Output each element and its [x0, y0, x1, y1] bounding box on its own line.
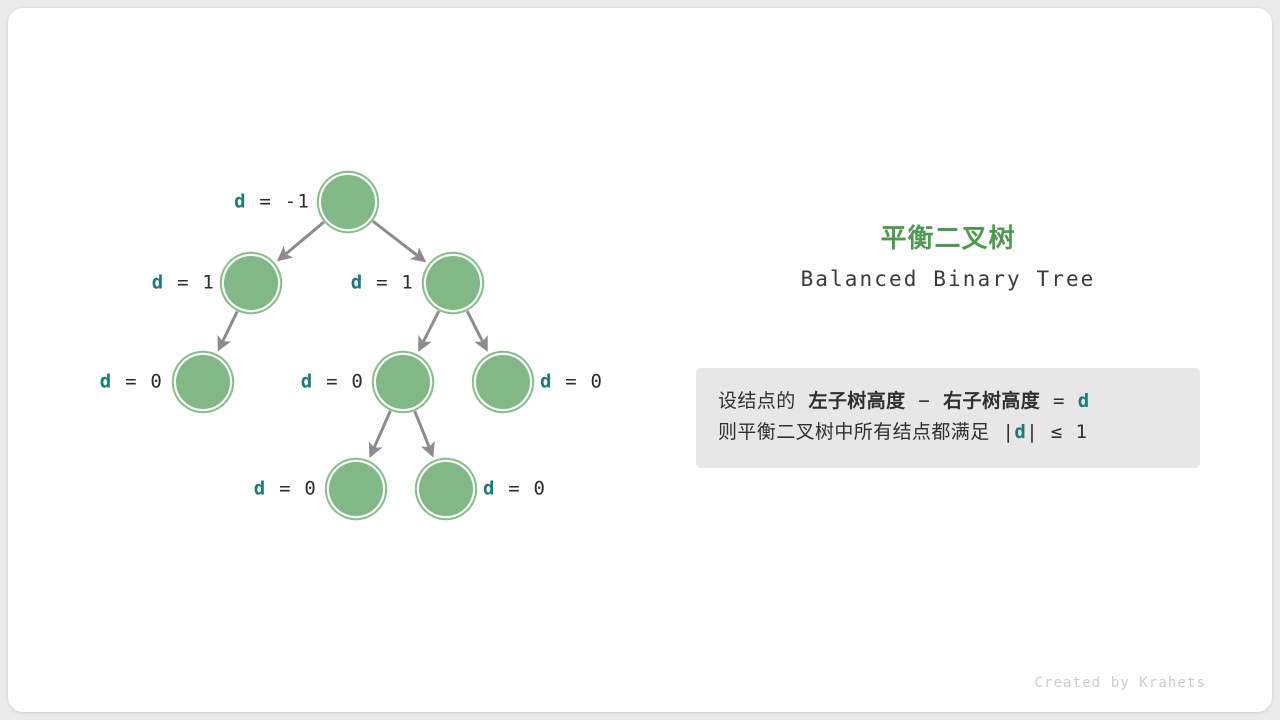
title-panel: 平衡二叉树 Balanced Binary Tree	[696, 222, 1200, 291]
definition-line-2: 则平衡二叉树中所有结点都满足 |d| ≤ 1	[718, 417, 1178, 448]
tree-node[interactable]	[376, 355, 430, 409]
node-balance-label: d = -1	[234, 193, 310, 212]
equals-operator: =	[1053, 390, 1065, 412]
definition-box: 设结点的 左子树高度 − 右子树高度 = d 则平衡二叉树中所有结点都满足 |d…	[696, 368, 1200, 468]
page-subtitle: Balanced Binary Tree	[696, 267, 1200, 291]
relation-operator: ≤	[1051, 421, 1063, 443]
balance-value: = 0	[112, 371, 163, 393]
balance-value: = 1	[363, 272, 414, 294]
abs-bar-close: |	[1026, 421, 1038, 443]
tree-node[interactable]	[224, 256, 278, 310]
tree-node[interactable]	[176, 355, 230, 409]
balance-value: = 0	[496, 478, 547, 500]
balance-value: = 0	[266, 478, 317, 500]
node-balance-label: d = 0	[301, 373, 364, 392]
term-left-subtree-height: 左子树高度	[809, 390, 906, 412]
variable-d: d	[234, 191, 247, 213]
balance-value: = 0	[313, 371, 364, 393]
node-balance-label: d = 0	[483, 480, 546, 499]
variable-d: d	[351, 272, 364, 294]
balance-value: = 0	[553, 371, 604, 393]
balance-value: = 1	[164, 272, 215, 294]
variable-d: d	[301, 371, 314, 393]
variable-d: d	[540, 371, 553, 393]
definition-prefix: 设结点的	[718, 390, 796, 412]
credit-footer: Created by Krahets	[1034, 675, 1206, 691]
tree-node[interactable]	[426, 256, 480, 310]
tree-node[interactable]	[476, 355, 530, 409]
node-balance-label: d = 1	[152, 274, 215, 293]
constraint-prefix: 则平衡二叉树中所有结点都满足	[718, 421, 990, 443]
tree-node[interactable]	[321, 175, 375, 229]
abs-bar-open: |	[1003, 421, 1015, 443]
variable-d: d	[152, 272, 165, 294]
node-balance-label: d = 0	[540, 373, 603, 392]
bound-value: 1	[1076, 421, 1088, 443]
node-balance-label: d = 0	[254, 480, 317, 499]
variable-d: d	[1014, 421, 1026, 443]
minus-operator: −	[918, 390, 930, 412]
node-balance-label: d = 0	[100, 373, 163, 392]
term-right-subtree-height: 右子树高度	[943, 390, 1040, 412]
balance-value: = -1	[247, 191, 310, 213]
variable-d: d	[483, 478, 496, 500]
tree-node[interactable]	[419, 462, 473, 516]
tree-node[interactable]	[329, 462, 383, 516]
node-balance-label: d = 1	[351, 274, 414, 293]
variable-d: d	[1078, 390, 1090, 412]
variable-d: d	[254, 478, 267, 500]
variable-d: d	[100, 371, 113, 393]
screenshot-root: d = -1d = 1d = 1d = 0d = 0d = 0d = 0d = …	[0, 0, 1280, 720]
definition-line-1: 设结点的 左子树高度 − 右子树高度 = d	[718, 386, 1178, 417]
page-title: 平衡二叉树	[696, 222, 1200, 257]
